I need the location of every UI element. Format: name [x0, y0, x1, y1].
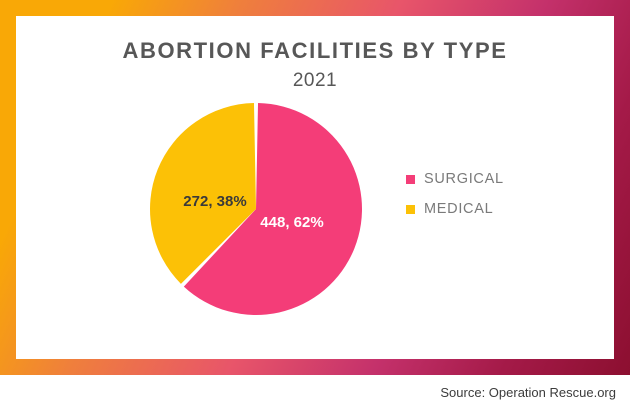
legend-label-surgical: SURGICAL — [424, 171, 504, 187]
legend-swatch-surgical — [406, 175, 415, 184]
chart-panel: ABORTION FACILITIES BY TYPE 2021 448, 62… — [16, 16, 614, 359]
source-attribution: Source: Operation Rescue.org — [440, 385, 616, 400]
pie-label-surgical: 448, 62% — [260, 214, 323, 231]
pie-chart: 448, 62% 272, 38% — [149, 102, 363, 316]
chart-legend: SURGICAL MEDICAL — [406, 164, 504, 224]
chart-title: ABORTION FACILITIES BY TYPE — [16, 38, 614, 64]
legend-item-surgical[interactable]: SURGICAL — [406, 164, 504, 194]
chart-card: ABORTION FACILITIES BY TYPE 2021 448, 62… — [0, 0, 630, 375]
pie-label-medical: 272, 38% — [183, 193, 246, 210]
pie-chart-svg: 448, 62% 272, 38% — [149, 102, 363, 316]
chart-subtitle: 2021 — [16, 70, 614, 92]
legend-swatch-medical — [406, 205, 415, 214]
legend-label-medical: MEDICAL — [424, 201, 493, 217]
legend-item-medical[interactable]: MEDICAL — [406, 194, 504, 224]
